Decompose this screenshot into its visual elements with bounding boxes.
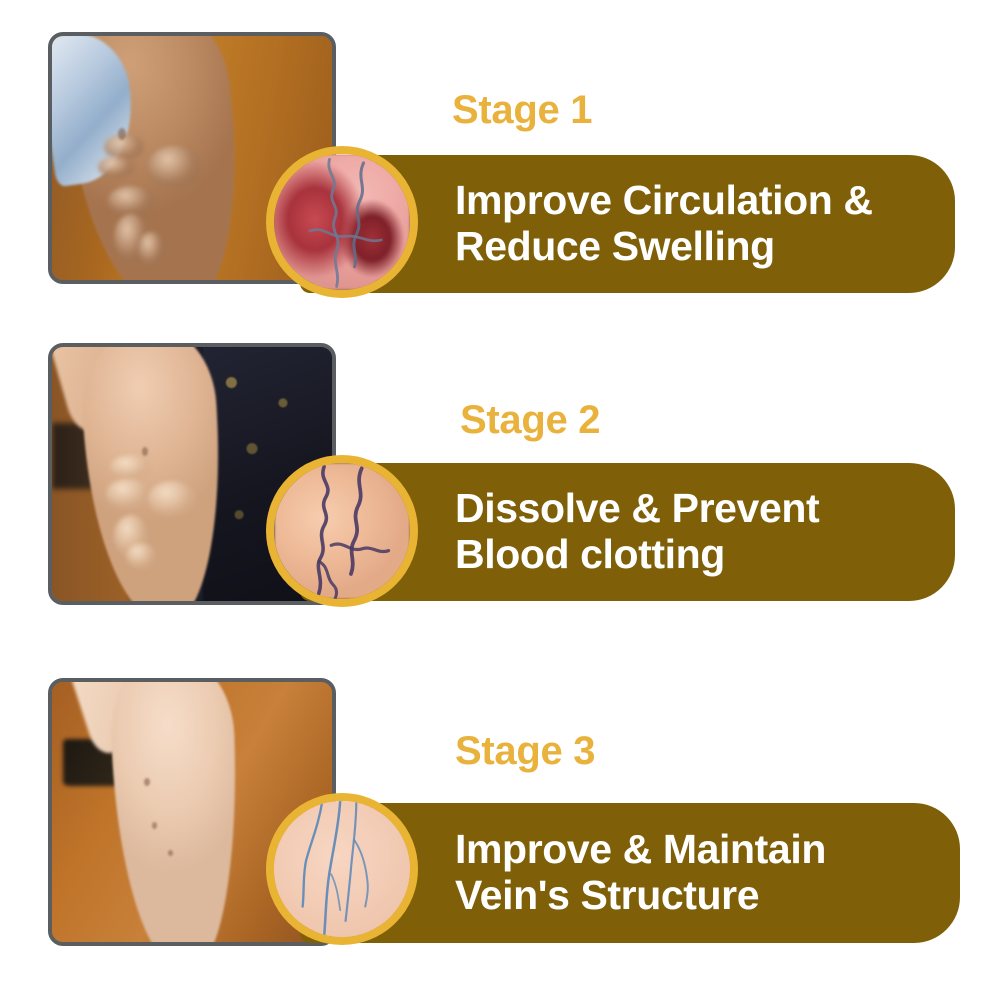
vein-bulge bbox=[126, 543, 156, 569]
stages-infographic: Stage 1 Improve Circulation & Reduce Swe… bbox=[0, 0, 1000, 1000]
skin-spot bbox=[144, 778, 150, 786]
stage-3-label: Stage 3 bbox=[455, 729, 595, 774]
vein-bulge bbox=[110, 455, 150, 479]
stage-2-label: Stage 2 bbox=[460, 398, 600, 443]
vein-bulge bbox=[148, 481, 196, 517]
vein-bulge bbox=[138, 232, 164, 266]
stage-row-2: Stage 2 Dissolve & Prevent Blood clottin… bbox=[0, 330, 1000, 660]
stage-row-3: Stage 3 Improve & Maintain Vein's Struct… bbox=[0, 655, 1000, 1000]
vein-bulge bbox=[106, 479, 150, 509]
vein-magnifier-icon-3 bbox=[266, 793, 418, 945]
skin-spot bbox=[168, 850, 173, 856]
stage-1-label: Stage 1 bbox=[452, 88, 592, 133]
vein-lines bbox=[274, 801, 410, 937]
stage-3-headline: Improve & Maintain Vein's Structure bbox=[455, 827, 826, 919]
vein-lines bbox=[274, 463, 410, 599]
vein-bulge bbox=[148, 146, 200, 188]
stage-row-1: Stage 1 Improve Circulation & Reduce Swe… bbox=[0, 0, 1000, 330]
vein-lines bbox=[274, 154, 410, 290]
stage-2-headline: Dissolve & Prevent Blood clotting bbox=[455, 486, 819, 578]
vein-magnifier-icon-1 bbox=[266, 146, 418, 298]
stage-1-headline: Improve Circulation & Reduce Swelling bbox=[455, 178, 873, 270]
vein-bulge bbox=[108, 186, 154, 216]
skin-spot bbox=[152, 822, 157, 829]
vein-bulge bbox=[98, 156, 134, 178]
skin-spot bbox=[118, 128, 126, 140]
skin-spot bbox=[142, 447, 148, 456]
vein-magnifier-icon-2 bbox=[266, 455, 418, 607]
